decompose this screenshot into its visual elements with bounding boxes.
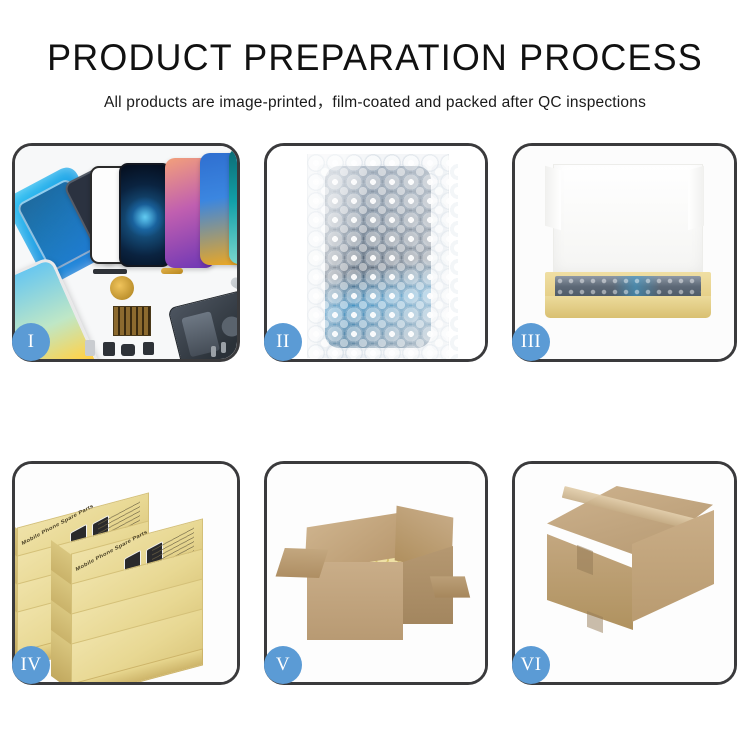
part-sim-tray (143, 342, 154, 355)
scene-sealed-carton (515, 464, 734, 682)
step-badge-6: VI (512, 646, 550, 684)
mailer-tray-front-wall (545, 296, 711, 318)
panel-bubble-wrap[interactable]: II (264, 143, 488, 362)
panel-products-image (15, 146, 237, 359)
mailer-lid-flap-left (545, 166, 561, 231)
part-screw-1 (211, 346, 216, 357)
phone-blue-wallpaper (119, 163, 171, 267)
step-badge-2: II (264, 323, 302, 361)
scene-inner-box (515, 146, 734, 359)
part-gold-connector (161, 268, 183, 274)
scene-products (15, 146, 237, 359)
part-speaker-coil (110, 276, 134, 300)
process-step-grid: I II (0, 0, 750, 750)
film-gloss-highlight (307, 154, 449, 358)
step-badge-1: I (12, 323, 50, 361)
panel-products[interactable]: I (12, 143, 240, 362)
part-small-chip (103, 342, 115, 356)
part-chip-grid (113, 306, 151, 336)
panel-sealed-carton[interactable]: VI (512, 461, 737, 685)
step-badge-4: IV (12, 646, 50, 684)
carton-flap-left (276, 548, 329, 578)
panel-sealed-carton-image (515, 464, 734, 682)
carton-flap-front (430, 576, 470, 597)
part-metal-bracket (85, 340, 95, 356)
panel-bubble-wrap-image (267, 146, 485, 359)
panel-inner-box[interactable]: III (512, 143, 737, 362)
panel-box-stack-image: Mobile Phone Spare Parts (15, 464, 237, 682)
phone-teal-gradient (229, 148, 237, 264)
part-screw-2 (221, 342, 226, 353)
step-badge-3: III (512, 323, 550, 361)
step-badge-5: V (264, 646, 302, 684)
panel-open-carton[interactable]: V (264, 461, 488, 685)
panel-open-carton-image (267, 464, 485, 682)
mailer-lid-panel (553, 164, 703, 282)
panel-box-stack[interactable]: Mobile Phone Spare Parts (12, 461, 240, 685)
carton-front-wall (307, 562, 403, 640)
scene-open-carton (267, 464, 485, 682)
part-flex-cable (93, 269, 127, 274)
scene-bubble-wrap (267, 146, 485, 359)
scene-box-stack: Mobile Phone Spare Parts (15, 464, 237, 682)
part-camera-module (121, 344, 135, 356)
mailer-lid-flap-right (688, 166, 704, 231)
page-root: PRODUCT PREPARATION PROCESS All products… (0, 0, 750, 750)
panel-inner-box-image (515, 146, 734, 359)
